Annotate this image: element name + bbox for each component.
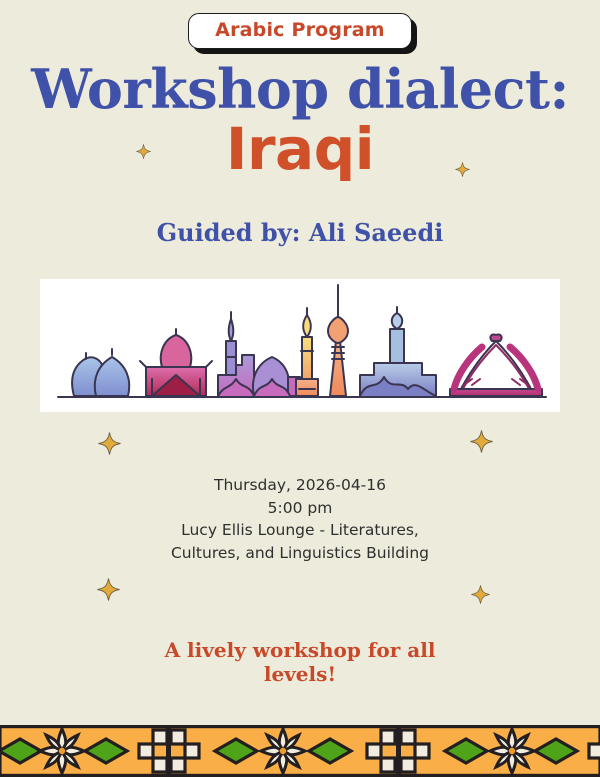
page-title: Workshop dialect: <box>0 62 600 117</box>
program-badge: Arabic Program <box>188 13 412 49</box>
sparkle-top-right-icon <box>455 162 470 177</box>
tagline-line1: A lively workshop for all <box>100 638 500 662</box>
ornament-border <box>0 725 600 777</box>
page-subtitle-dialect: Iraqi <box>0 120 600 179</box>
event-details: Thursday, 2026-04-16 5:00 pm Lucy Ellis … <box>0 474 600 565</box>
sparkle-low-left-icon <box>97 578 120 601</box>
tagline: A lively workshop for all levels! <box>100 638 500 687</box>
sparkle-mid-right-icon <box>470 430 493 453</box>
poster-canvas: Arabic Program Workshop dialect: Iraqi G… <box>0 0 600 777</box>
event-date: Thursday, 2026-04-16 <box>0 474 600 497</box>
sparkle-mid-left-icon <box>98 432 121 455</box>
sparkle-low-right-icon <box>471 585 490 604</box>
presenter-line: Guided by: Ali Saeedi <box>0 220 600 246</box>
event-time: 5:00 pm <box>0 497 600 520</box>
tagline-line2: levels! <box>100 662 500 686</box>
skyline-illustration <box>40 279 560 412</box>
badge-container: Arabic Program <box>0 13 600 49</box>
sparkle-top-left-icon <box>136 144 151 159</box>
event-location-line2: Cultures, and Linguistics Building <box>0 542 600 565</box>
event-location-line1: Lucy Ellis Lounge - Literatures, <box>0 519 600 542</box>
